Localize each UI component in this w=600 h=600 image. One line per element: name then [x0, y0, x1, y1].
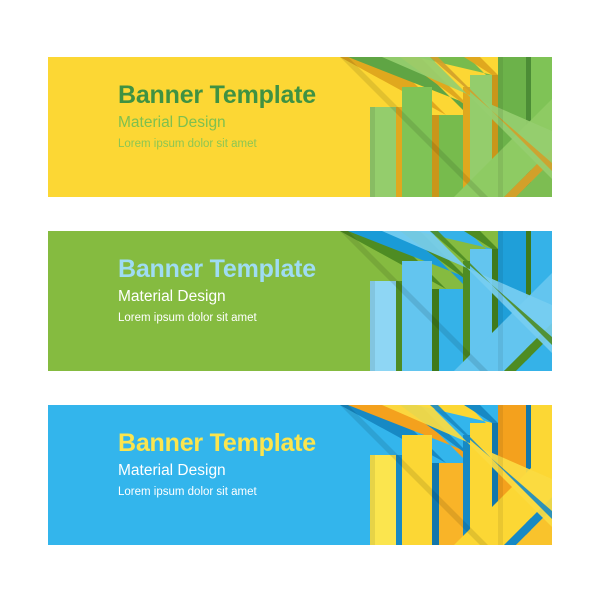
banner-green[interactable]: Banner Template Material Design Lorem ip… [48, 231, 552, 371]
banner-blue[interactable]: Banner Template Material Design Lorem ip… [48, 405, 552, 545]
banner-blue-text: Banner Template Material Design Lorem ip… [118, 431, 316, 498]
banner-title: Banner Template [118, 83, 316, 108]
banner-yellow-text: Banner Template Material Design Lorem ip… [118, 83, 316, 150]
banner-title: Banner Template [118, 257, 316, 282]
banner-body-text: Lorem ipsum dolor sit amet [118, 313, 316, 325]
banner-green-text: Banner Template Material Design Lorem ip… [118, 257, 316, 324]
banner-yellow[interactable]: Banner Template Material Design Lorem ip… [48, 57, 552, 197]
banner-subtitle: Material Design [118, 115, 316, 131]
banner-template-canvas: Banner Template Material Design Lorem ip… [0, 0, 600, 600]
banner-title: Banner Template [118, 431, 316, 456]
banner-body-text: Lorem ipsum dolor sit amet [118, 487, 316, 499]
banner-subtitle: Material Design [118, 463, 316, 479]
banner-body-text: Lorem ipsum dolor sit amet [118, 139, 316, 151]
banner-subtitle: Material Design [118, 289, 316, 305]
